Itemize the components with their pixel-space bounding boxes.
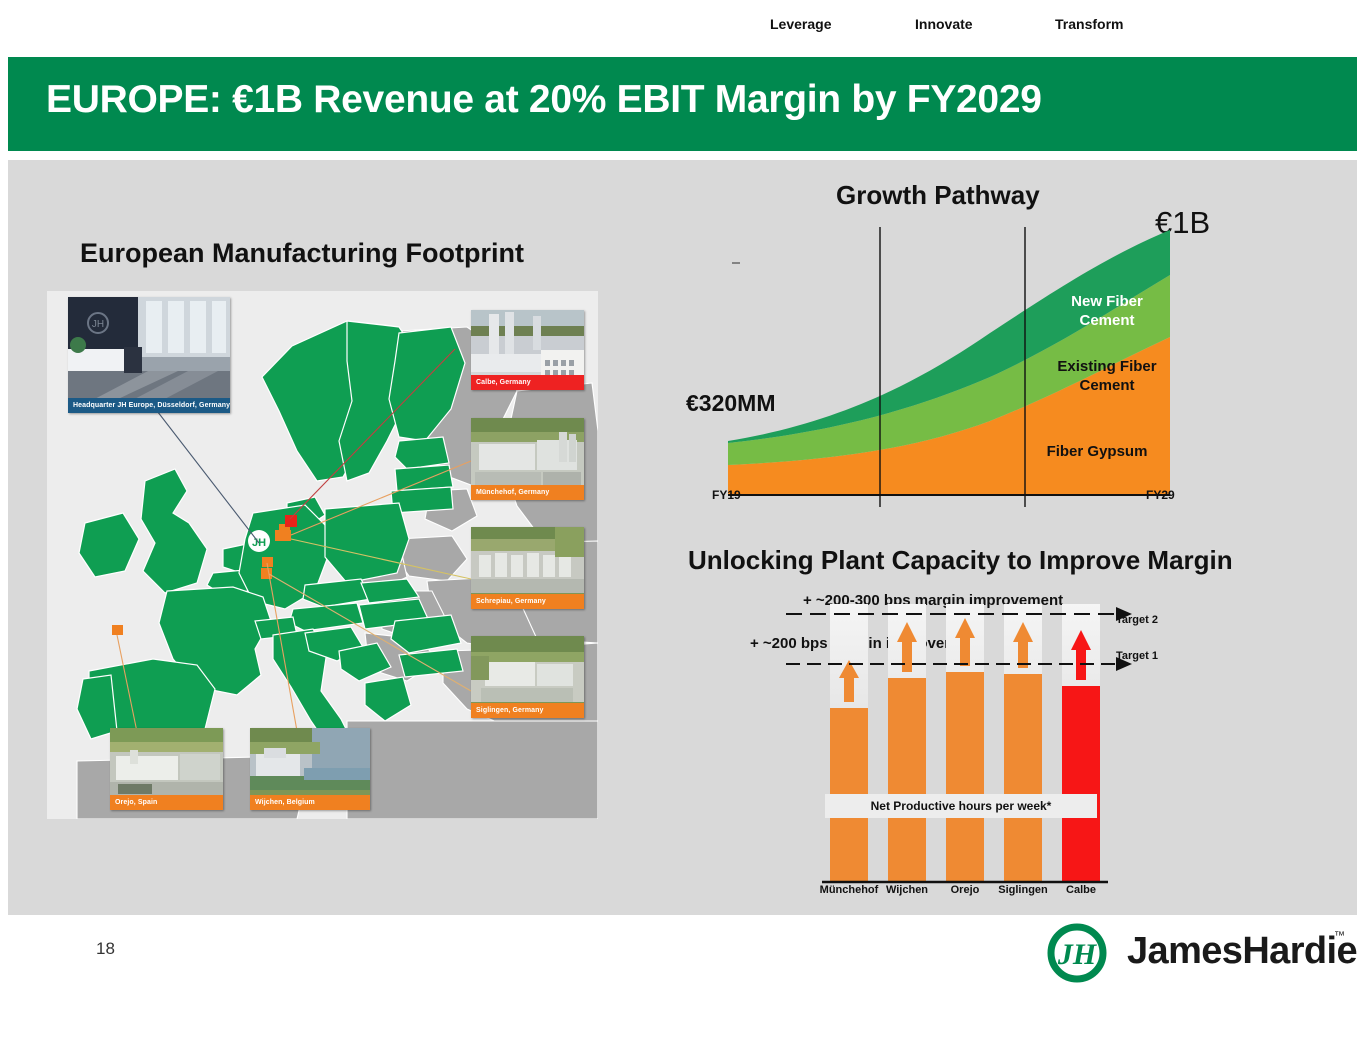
map-marker-calbe <box>285 515 297 527</box>
area-label-new-fiber-cement: New Fiber Cement <box>1042 293 1172 331</box>
target-arrow-1 <box>1116 657 1132 671</box>
photo-caption-siglingen: Siglingen, Germany <box>471 703 584 718</box>
area-label-fiber-gypsum: Fiber Gypsum <box>1022 443 1172 462</box>
phase-label-innovate: Innovate <box>915 16 973 32</box>
brand-trademark-symbol: ™ <box>1334 930 1345 942</box>
area-label-existing-fiber-cement: Existing Fiber Cement <box>1042 358 1172 396</box>
slide-root: EUROPE: €1B Revenue at 20% EBIT Margin b… <box>0 0 1365 1055</box>
phase-label-leverage: Leverage <box>770 16 831 32</box>
svg-text:JH: JH <box>252 537 266 549</box>
photo-caption-munchehof: Münchehof, Germany <box>471 485 584 500</box>
photo-card-wijchen[interactable]: Wijchen, Belgium <box>250 728 370 810</box>
photo-image-headquarters: JH <box>68 297 230 413</box>
net-productive-hours-label: Net Productive hours per week* <box>825 794 1097 818</box>
photo-card-siglingen[interactable]: Siglingen, Germany <box>471 636 584 718</box>
page-number: 18 <box>96 939 115 959</box>
phase-label-transform: Transform <box>1055 16 1123 32</box>
photo-card-schrepiau[interactable]: Schrepiau, Germany <box>471 527 584 609</box>
photo-card-orejo[interactable]: Orejo, Spain <box>110 728 223 810</box>
bar-orejo <box>946 672 984 882</box>
map-marker-siglingen <box>261 568 272 579</box>
photo-caption-headquarters: Headquarter JH Europe, Düsseldorf, Germa… <box>68 398 230 413</box>
brand-logo: JH JamesHardie ™ <box>1037 922 1357 984</box>
unlock-capacity-title: Unlocking Plant Capacity to Improve Marg… <box>688 545 1233 576</box>
jameshardie-monogram-icon: JH <box>1037 922 1117 984</box>
growth-axis-tick-end: FY29 <box>1146 488 1175 502</box>
map-marker-orejo <box>112 625 123 635</box>
bar-label-calbe: Calbe <box>1042 884 1120 896</box>
brand-logo-text: JamesHardie <box>1127 930 1357 973</box>
svg-text:JH: JH <box>1057 938 1098 971</box>
plant-capacity-bar-chart <box>760 590 1190 910</box>
area-label-new-line1: New Fiber Cement <box>1071 293 1143 329</box>
map-marker-munchehof <box>275 530 291 541</box>
bar-siglingen <box>1004 674 1042 882</box>
growth-axis-tick-start: FY19 <box>712 488 741 502</box>
target-arrow-2 <box>1116 607 1132 621</box>
bar-calbe <box>1062 686 1100 882</box>
growth-pathway-title: Growth Pathway <box>836 180 1040 211</box>
photo-card-calbe[interactable]: Calbe, Germany <box>471 310 584 390</box>
photo-caption-calbe: Calbe, Germany <box>471 375 584 390</box>
photo-card-munchehof[interactable]: Münchehof, Germany <box>471 418 584 500</box>
page-title: EUROPE: €1B Revenue at 20% EBIT Margin b… <box>46 78 1246 122</box>
photo-caption-orejo: Orejo, Spain <box>110 795 223 810</box>
area-label-existing-line1: Existing Fiber Cement <box>1057 358 1156 394</box>
footprint-section-title: European Manufacturing Footprint <box>80 238 524 269</box>
svg-text:JH: JH <box>92 319 104 330</box>
bar-wijchen <box>888 678 926 882</box>
photo-caption-schrepiau: Schrepiau, Germany <box>471 594 584 609</box>
photo-caption-wijchen: Wijchen, Belgium <box>250 795 370 810</box>
photo-card-headquarters[interactable]: JH Headquarter JH Europe, Düsseldorf, Ge… <box>68 297 230 413</box>
capacity-bars <box>830 672 1100 882</box>
area-label-gypsum-line1: Fiber Gypsum <box>1047 443 1148 460</box>
